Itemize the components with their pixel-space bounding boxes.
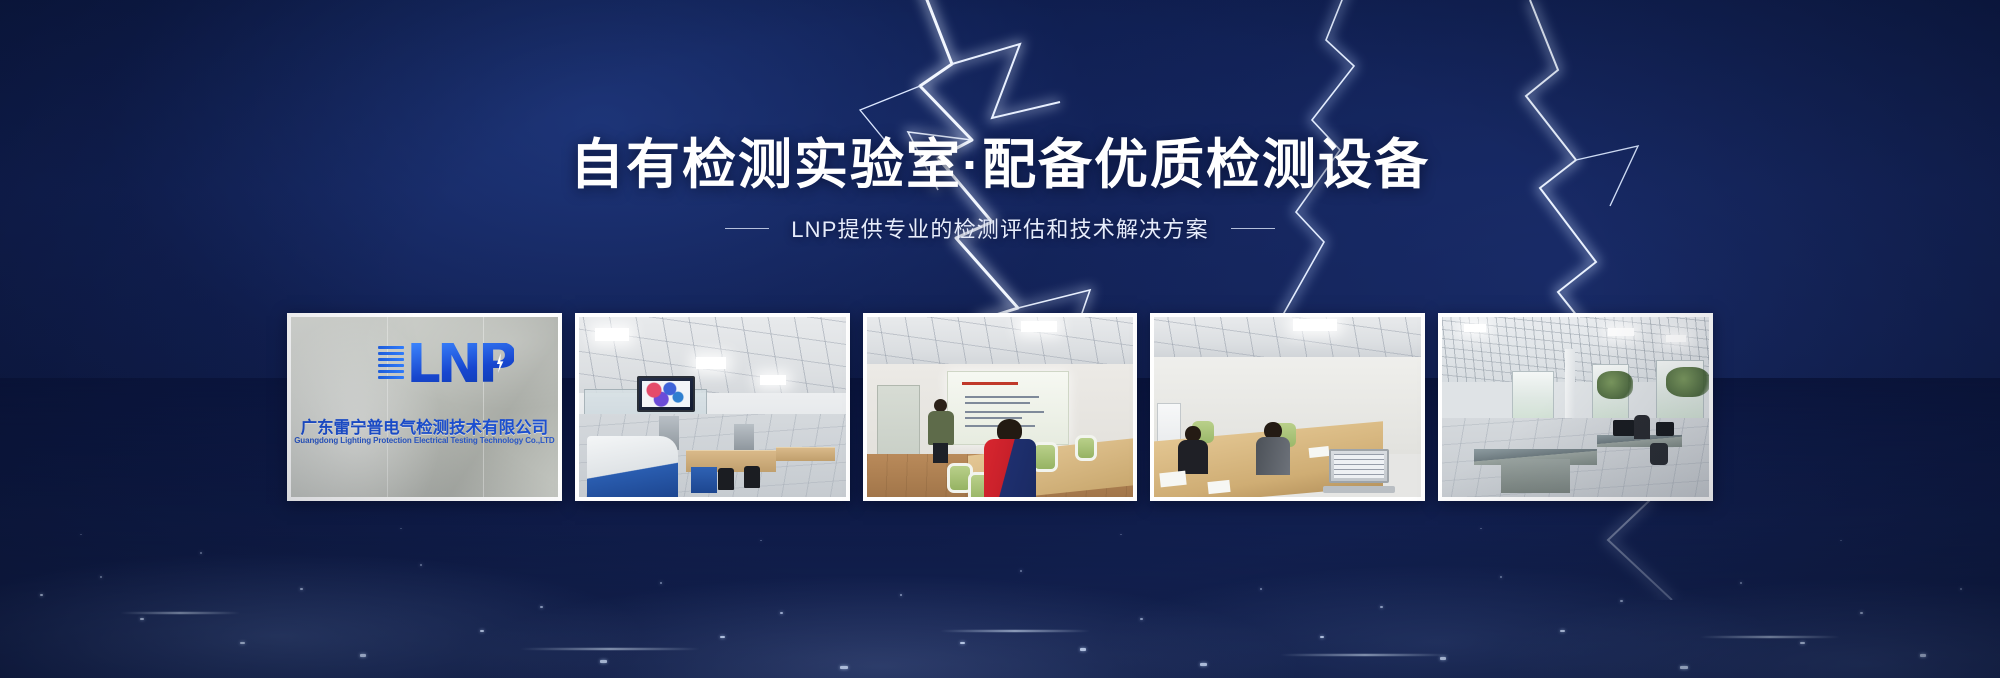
person-working	[1634, 415, 1650, 439]
ceiling-light	[1021, 321, 1057, 332]
company-name-cn: 广东雷宁普电气检测技术有限公司	[291, 414, 558, 438]
photo-image-training-meeting	[867, 317, 1134, 497]
ceiling-light	[1666, 335, 1686, 342]
photo-gallery: LNP 广东雷宁普电气检测技术有限公司 Guangdong Lighting P…	[287, 313, 1713, 501]
lnp-logo: LNP	[378, 343, 513, 385]
ceiling-light	[1293, 319, 1337, 331]
divider-dash-left	[725, 228, 769, 229]
slide-text-line	[965, 402, 1030, 404]
divider-dash-right	[1231, 228, 1275, 229]
documents	[1159, 471, 1186, 488]
photo-image-office-area	[1442, 317, 1709, 497]
equipment-rack	[734, 424, 754, 450]
wall-monitor	[637, 376, 695, 412]
person-seated	[1256, 422, 1290, 472]
banner-text-block: 自有检测实验室·配备优质检测设备 LNP提供专业的检测评估和技术解决方案	[0, 138, 2000, 244]
slide-text-line	[965, 396, 1040, 398]
page-title: 自有检测实验室·配备优质检测设备	[0, 138, 2000, 192]
banner-subtitle-row: LNP提供专业的检测评估和技术解决方案	[0, 212, 2000, 244]
photo-image-testing-laboratory	[579, 317, 846, 497]
desk-panel	[1501, 459, 1570, 493]
lab-bench	[776, 447, 835, 461]
ceiling-light	[760, 375, 786, 385]
banner-subtitle: LNP提供专业的检测评估和技术解决方案	[791, 212, 1209, 244]
logo-bars-icon	[378, 346, 404, 385]
slide-title-line	[962, 382, 1018, 385]
gallery-photo-training-meeting[interactable]	[863, 313, 1138, 501]
ceiling-light	[696, 357, 726, 369]
outdoor-greenery	[1666, 367, 1709, 397]
photo-image-company-sign: LNP 广东雷宁普电气检测技术有限公司 Guangdong Lighting P…	[291, 317, 558, 497]
outdoor-greenery	[1597, 371, 1633, 399]
meeting-chair	[1075, 435, 1097, 461]
office-chair	[1650, 443, 1668, 465]
hero-banner: 自有检测实验室·配备优质检测设备 LNP提供专业的检测评估和技术解决方案 LNP	[0, 0, 2000, 678]
laptop	[1323, 449, 1395, 493]
control-console	[587, 436, 678, 497]
ceiling-light	[595, 328, 629, 341]
photo-image-meeting-discussion	[1154, 317, 1421, 497]
office-chair	[718, 468, 734, 490]
slide-text-line	[965, 411, 1045, 413]
ceiling-light	[1464, 324, 1486, 332]
computer-monitor	[1613, 420, 1635, 436]
person-presenting	[928, 399, 954, 461]
gallery-photo-testing-laboratory[interactable]	[575, 313, 850, 501]
person-seated	[984, 419, 1036, 497]
gallery-photo-office-area[interactable]	[1438, 313, 1713, 501]
company-name-en: Guangdong Lighting Protection Electrical…	[291, 436, 558, 445]
person-seated	[1178, 426, 1208, 472]
office-chair	[744, 466, 760, 488]
gallery-photo-meeting-discussion[interactable]	[1150, 313, 1425, 501]
test-equipment	[691, 467, 717, 493]
ceiling-grid	[1154, 317, 1421, 360]
gallery-photo-company-sign[interactable]: LNP 广东雷宁普电气检测技术有限公司 Guangdong Lighting P…	[287, 313, 562, 501]
ceiling-light	[1608, 328, 1634, 336]
logo-letters: LNP	[406, 343, 513, 385]
computer-monitor	[1656, 422, 1674, 436]
